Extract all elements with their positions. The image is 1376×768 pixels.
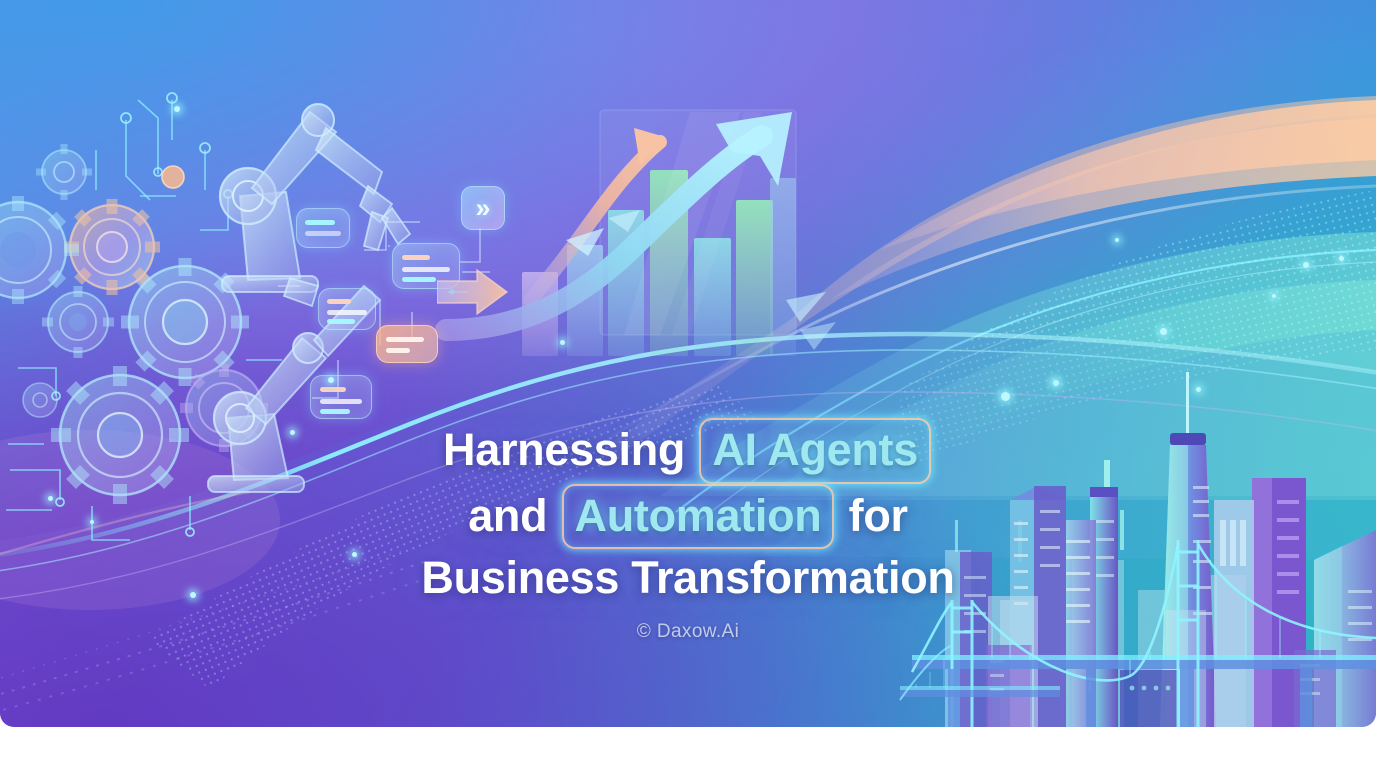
highlight-automation: Automation (562, 484, 835, 550)
title-line-3: Business Transformation (0, 549, 1376, 607)
glow-dot (1339, 256, 1344, 261)
glow-dot (1272, 294, 1276, 298)
glow-dot (328, 377, 334, 383)
glow-dot (1001, 392, 1010, 401)
title-block: Harnessing AI Agents and Automation for … (0, 418, 1376, 643)
highlight-ai-agents: AI Agents (699, 418, 931, 484)
glow-dot (1115, 238, 1119, 242)
hero-banner: » (0, 0, 1376, 727)
glow-dot (1196, 387, 1201, 392)
glow-dot (1053, 380, 1059, 386)
title-line-1-plain: Harnessing (443, 424, 697, 475)
footer-white-strip (0, 727, 1376, 768)
title-line-2: and Automation for (0, 484, 1376, 550)
glow-dot (1303, 262, 1309, 268)
glow-dot (560, 340, 565, 345)
glow-dot (174, 106, 180, 112)
title-line-2-plain-b: for (836, 490, 907, 541)
title-line-1: Harnessing AI Agents (0, 418, 1376, 484)
glow-dot (1160, 328, 1167, 335)
copyright-label: © Daxow.Ai (0, 621, 1376, 643)
title-line-2-plain-a: and (468, 490, 559, 541)
